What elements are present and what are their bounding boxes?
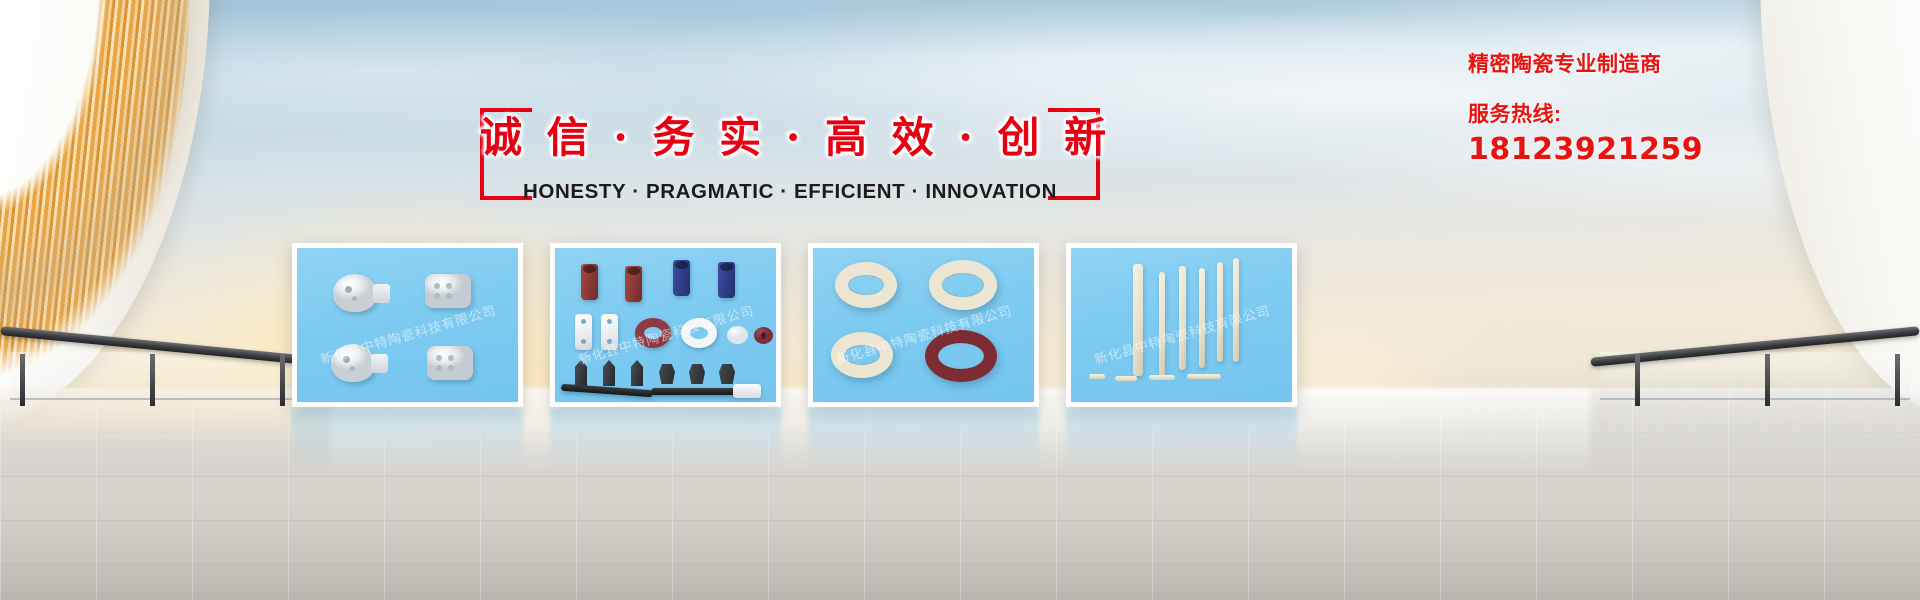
ceramic-rod-short — [1187, 374, 1221, 379]
ceramic-tube-blue — [718, 262, 735, 298]
product-card-image: 新化县中特陶瓷科技有限公司 — [1071, 248, 1292, 402]
card-reflection — [292, 408, 523, 474]
ceramic-disc-white — [727, 326, 748, 344]
ceramic-rod — [1133, 264, 1143, 376]
ceramic-rod — [1217, 262, 1223, 362]
product-card-ceramic-seal-rings[interactable]: 新化县中特陶瓷科技有限公司 — [808, 243, 1039, 407]
ceramic-rod — [1233, 258, 1239, 362]
cable-connector — [733, 384, 761, 398]
slogan-english: HONESTY · PRAGMATIC · EFFICIENT · INNOVA… — [480, 180, 1100, 204]
contact-info-block: 精密陶瓷专业制造商 服务热线: 18123921259 — [1468, 48, 1888, 167]
hero-banner: 诚 信 · 务 实 · 高 效 · 创 新 HONESTY · PRAGMATI… — [0, 0, 1920, 600]
ceramic-terminal — [689, 364, 705, 384]
seal-ring-large — [929, 260, 997, 310]
ceramic-terminal — [719, 364, 735, 384]
hotline-phone-number[interactable]: 18123921259 — [1468, 132, 1888, 167]
seal-ring-large — [831, 332, 893, 378]
company-tagline: 精密陶瓷专业制造商 — [1468, 48, 1888, 78]
railing-post — [20, 354, 25, 406]
ceramic-disc-red — [754, 327, 773, 344]
railing-post — [1895, 354, 1900, 406]
slogan-chinese: 诚 信 · 务 实 · 高 效 · 创 新 — [480, 104, 1100, 165]
insulator-round — [331, 344, 375, 382]
product-card-ceramic-insulator-housings[interactable]: 新化县中特陶瓷科技有限公司 — [292, 243, 523, 407]
card-reflection — [1066, 408, 1297, 474]
ceramic-ring-red — [635, 318, 671, 348]
railing-post — [280, 354, 285, 406]
product-card-image: 新化县中特陶瓷科技有限公司 — [555, 248, 776, 402]
card-reflection — [550, 408, 781, 474]
product-card-ceramic-tubes-rings-terminals[interactable]: 新化县中特陶瓷科技有限公司 — [550, 243, 781, 407]
seal-ring-red — [925, 330, 997, 382]
product-card-row: 新化县中特陶瓷科技有限公司 — [292, 243, 1297, 407]
slogan-block: 诚 信 · 务 实 · 高 效 · 创 新 HONESTY · PRAGMATI… — [480, 108, 1100, 200]
insulator-square — [427, 346, 473, 380]
ceramic-rod-short — [1089, 374, 1105, 379]
insulator-round — [333, 274, 377, 312]
ceramic-tip — [575, 360, 587, 386]
card-reflections — [292, 408, 1297, 474]
insulator-square — [425, 274, 471, 308]
ceramic-plate — [575, 314, 592, 350]
ceramic-rod-short — [1149, 375, 1175, 380]
right-railing — [1590, 336, 1920, 402]
ceramic-rod-short — [1115, 376, 1137, 381]
railing-post — [150, 354, 155, 406]
ceramic-tube-blue — [673, 260, 690, 296]
left-railing — [0, 336, 330, 402]
ceramic-ring-white — [681, 318, 717, 348]
railing-post — [1635, 354, 1640, 406]
ceramic-rod — [1179, 266, 1186, 370]
seal-ring-large — [835, 262, 897, 308]
wire-cable — [651, 388, 737, 395]
ceramic-rod — [1199, 268, 1205, 368]
ceramic-tube-red — [625, 266, 642, 302]
ceramic-tip — [603, 360, 615, 386]
product-card-image: 新化县中特陶瓷科技有限公司 — [297, 248, 518, 402]
card-reflection — [808, 408, 1039, 474]
product-card-image: 新化县中特陶瓷科技有限公司 — [813, 248, 1034, 402]
ceramic-terminal — [659, 364, 675, 384]
ceramic-plate — [601, 314, 618, 350]
hotline-label: 服务热线: — [1468, 98, 1888, 128]
ceramic-tube-red — [581, 264, 598, 300]
ceramic-rod — [1159, 272, 1165, 378]
product-card-ceramic-rods[interactable]: 新化县中特陶瓷科技有限公司 — [1066, 243, 1297, 407]
ceramic-tip — [631, 360, 643, 386]
railing-post — [1765, 354, 1770, 406]
